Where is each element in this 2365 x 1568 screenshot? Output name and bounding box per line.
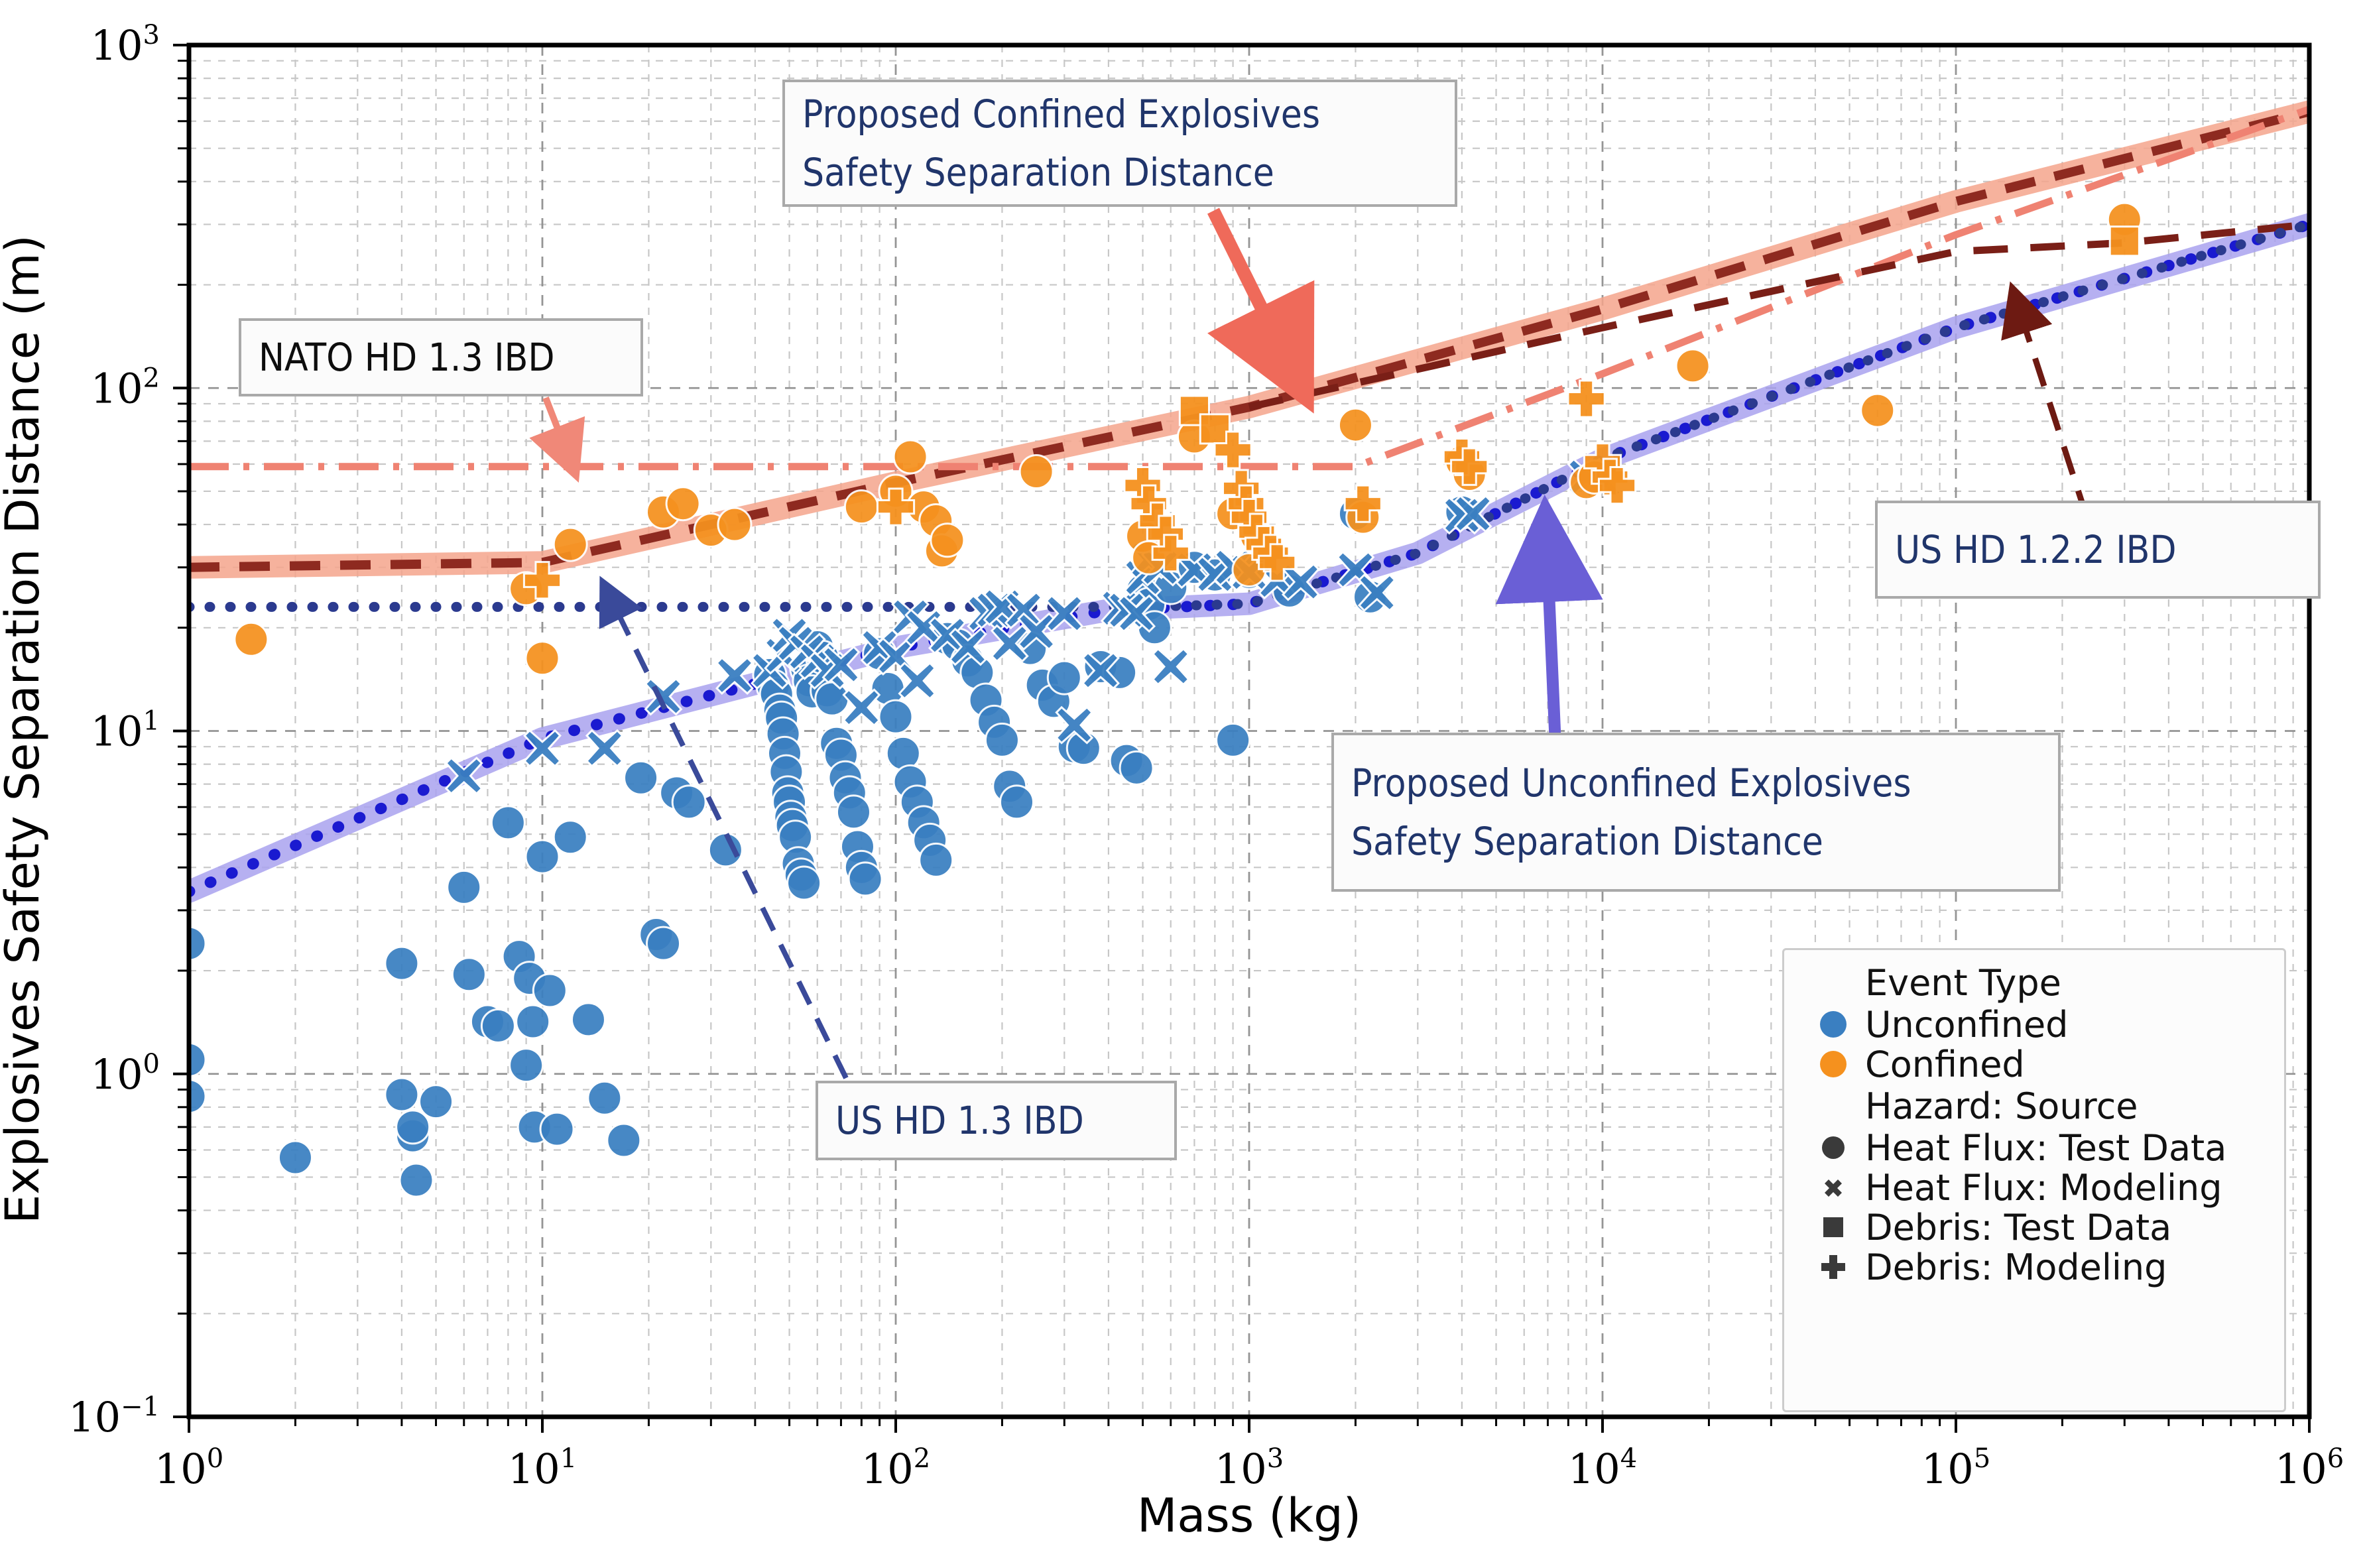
annotation-line: Proposed Confined Explosives [802,85,1437,143]
legend-item-unconfined: Unconfined [1801,1004,2262,1044]
data-point [1217,723,1250,756]
data-point [1020,455,1053,489]
data-point [554,821,587,854]
x-tick-label: 102 [861,1443,930,1493]
legend-item-confined: Confined [1801,1044,2262,1084]
data-point [1339,408,1372,442]
data-point [588,1081,621,1115]
data-point [448,871,481,904]
legend-label: Confined [1865,1044,2025,1085]
annotation-proposed-confined: Proposed Confined Explosives Safety Sepa… [782,80,1457,207]
data-point [625,761,658,794]
legend-label: Debris: Modeling [1865,1246,2167,1288]
data-point [452,958,485,991]
legend-marker-circle-icon [1801,1132,1865,1164]
data-point [1676,349,1709,383]
data-point [849,863,882,896]
data-point [816,682,849,715]
y-tick-label: 10−1 [68,1392,160,1441]
data-point [2110,227,2139,256]
data-point [672,786,705,819]
data-point [526,642,559,675]
data-point [510,1049,543,1082]
data-point [931,524,964,557]
data-point [385,947,418,980]
data-point [647,927,680,960]
data-point [1048,661,1081,694]
y-tick-label: 103 [91,20,160,70]
data-point [516,1005,550,1038]
legend-heading-event-type: Event Type [1865,961,2262,1004]
legend-marker-x-icon [1801,1172,1865,1203]
data-point [400,1164,433,1197]
y-tick-label: 101 [91,706,160,756]
x-axis-title: Mass (kg) [1137,1488,1361,1543]
data-point [607,1124,640,1157]
data-point [666,487,699,520]
data-point [1120,751,1153,784]
legend-marker-square-icon [1801,1211,1865,1243]
x-tick-label: 103 [1215,1443,1284,1493]
legend-label: Unconfined [1865,1004,2068,1046]
legend-marker-circle-orange [1801,1051,1865,1077]
data-point [526,840,559,873]
data-point [894,440,927,473]
data-point [788,867,821,900]
data-point [718,508,751,541]
legend-marker-circle-blue [1801,1011,1865,1038]
data-point [278,1141,312,1174]
annotation-proposed-unconfined: Proposed Unconfined Explosives Safety Se… [1331,733,2061,892]
legend-label: Heat Flux: Test Data [1865,1127,2226,1169]
legend-label: Debris: Test Data [1865,1207,2171,1248]
x-tick-label: 104 [1568,1443,1637,1493]
data-point [235,623,268,656]
legend-item-debris-modeling: Debris: Modeling [1801,1247,2262,1287]
x-tick-label: 101 [508,1443,577,1493]
chart-legend: Event Type Unconfined Confined Hazard: S… [1782,948,2286,1412]
legend-item-heatflux-testdata: Heat Flux: Test Data [1801,1128,2262,1168]
y-axis-title: Explosives Safety Separation Distance (m… [0,235,50,1224]
y-tick-label: 102 [91,363,160,412]
data-point [540,1113,574,1146]
data-point [1861,394,1894,427]
data-point [837,796,870,829]
legend-item-heatflux-modeling: Heat Flux: Modeling [1801,1168,2262,1207]
data-point [985,723,1018,756]
legend-item-debris-testdata: Debris: Test Data [1801,1207,2262,1247]
data-point [533,974,566,1007]
annotation-line: US HD 1.3 IBD [835,1091,1157,1150]
annotation-line: Proposed Unconfined Explosives [1351,754,2041,812]
data-point [879,700,912,733]
annotation-line: Safety Separation Distance [1351,812,2041,871]
data-point [481,1009,515,1042]
data-point [554,528,587,561]
x-tick-label: 100 [154,1443,223,1493]
x-tick-label: 106 [2275,1443,2344,1493]
chart-canvas: 10010110210310410510610310210110010−1 Ma… [0,0,2365,1568]
y-tick-label: 100 [91,1049,160,1099]
annotation-us-hd13: US HD 1.3 IBD [816,1081,1177,1160]
legend-marker-plus-icon [1801,1251,1865,1283]
data-point [396,1111,430,1144]
annotation-line: Safety Separation Distance [802,143,1437,202]
data-point [572,1003,605,1036]
data-point [920,843,953,876]
data-point [491,806,524,839]
annotation-line: NATO HD 1.3 IBD [259,328,623,387]
legend-label: Heat Flux: Modeling [1865,1167,2222,1209]
data-point [420,1085,453,1118]
data-point [385,1078,418,1111]
data-point [1001,786,1034,819]
data-point [845,491,878,524]
annotation-nato-hd13: NATO HD 1.3 IBD [239,318,643,396]
annotation-line: US HD 1.2.2 IBD [1895,520,2301,579]
x-tick-label: 105 [1921,1443,1990,1493]
annotation-us-hd122: US HD 1.2.2 IBD [1875,501,2321,599]
legend-heading-hazard-source: Hazard: Source [1865,1084,2262,1128]
data-point [1200,414,1229,444]
